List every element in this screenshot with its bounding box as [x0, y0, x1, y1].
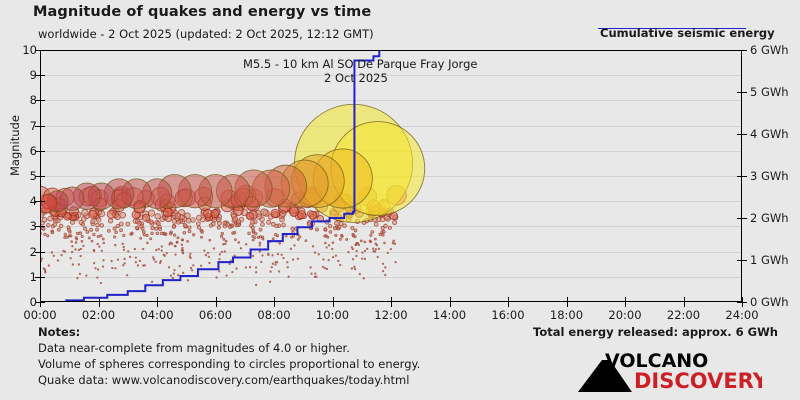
y-axis-title: Magnitude	[8, 115, 22, 176]
y2-axis-tick	[737, 176, 747, 177]
annotation-event-name: M5.5 - 10 km Al SO De Parque Fray Jorge	[243, 57, 477, 71]
x-axis-tick-label: 18:00	[550, 308, 583, 322]
note-completeness: Data near-complete from magnitudes of 4.…	[38, 341, 350, 355]
x-axis-tick	[391, 297, 392, 307]
volcanodiscovery-logo[interactable]: VOLCANO DISCOVERY	[572, 350, 762, 396]
x-axis-tick	[274, 297, 275, 307]
y2-axis-tick	[737, 218, 747, 219]
y2-axis-tick-label: 2 GWh	[750, 211, 789, 225]
y-axis-tick-label: 2	[30, 245, 37, 259]
page-title: Magnitude of quakes and energy vs time	[33, 4, 371, 20]
total-energy-label: Total energy released: approx. 6 GWh	[533, 325, 778, 339]
y2-axis-tick-label: 1 GWh	[750, 253, 789, 267]
x-axis-tick	[567, 297, 568, 307]
x-axis-tick-label: 12:00	[374, 308, 407, 322]
x-axis-tick-label: 16:00	[491, 308, 524, 322]
x-axis-tick	[625, 297, 626, 307]
legend-label-cumulative-energy: Cumulative seismic energy	[600, 26, 775, 40]
axis-frame	[40, 50, 742, 302]
y-axis-tick-label: 9	[30, 68, 37, 82]
x-axis-tick	[450, 297, 451, 307]
x-axis-tick-label: 00:00	[23, 308, 56, 322]
x-axis-tick	[508, 297, 509, 307]
x-axis-tick-label: 10:00	[316, 308, 349, 322]
y-axis-tick-label: 6	[30, 144, 37, 158]
x-axis-tick-label: 06:00	[199, 308, 232, 322]
page-subtitle: worldwide - 2 Oct 2025 (updated: 2 Oct 2…	[38, 27, 374, 41]
chart-page: Magnitude of quakes and energy vs time w…	[0, 0, 800, 400]
y2-axis-tick-label: 3 GWh	[750, 169, 789, 183]
x-axis-tick-label: 02:00	[82, 308, 115, 322]
y2-axis-tick-label: 6 GWh	[750, 43, 789, 57]
y-axis-tick-label: 1	[30, 270, 37, 284]
y2-axis-tick	[737, 260, 747, 261]
y-axis-tick-label: 5	[30, 169, 37, 183]
y-axis-tick-label: 7	[30, 119, 37, 133]
x-axis-tick-label: 14:00	[433, 308, 466, 322]
note-volume: Volume of spheres corresponding to circl…	[38, 357, 420, 371]
x-axis-tick	[40, 297, 41, 307]
y-axis-tick-label: 10	[22, 43, 37, 57]
notes-title: Notes:	[38, 325, 80, 339]
x-axis-tick	[157, 297, 158, 307]
x-axis-tick-label: 24:00	[725, 308, 758, 322]
y2-axis-tick-label: 5 GWh	[750, 85, 789, 99]
y2-axis-tick	[737, 92, 747, 93]
x-axis-tick-label: 04:00	[140, 308, 173, 322]
x-axis-tick	[684, 297, 685, 307]
plot-area: 0123456789100 GWh1 GWh2 GWh3 GWh4 GWh5 G…	[40, 50, 742, 302]
y-axis-tick-label: 4	[30, 194, 37, 208]
annotation-event-date: 2 Oct 2025	[324, 71, 388, 85]
y2-axis-tick	[737, 134, 747, 135]
note-source-url[interactable]: Quake data: www.volcanodiscovery.com/ear…	[38, 373, 409, 387]
x-axis-tick	[216, 297, 217, 307]
x-axis-tick	[333, 297, 334, 307]
y-axis-tick-label: 3	[30, 219, 37, 233]
y-axis-tick-label: 0	[30, 295, 37, 309]
y-axis-tick-label: 8	[30, 93, 37, 107]
x-axis-tick	[99, 297, 100, 307]
x-axis-tick-label: 20:00	[608, 308, 641, 322]
logo-text-discovery: DISCOVERY	[634, 369, 762, 393]
x-axis-tick-label: 08:00	[257, 308, 290, 322]
x-axis-tick	[742, 297, 743, 307]
y2-axis-tick-label: 0 GWh	[750, 295, 789, 309]
y2-axis-tick	[737, 50, 747, 51]
x-axis-tick-label: 22:00	[667, 308, 700, 322]
y2-axis-tick-label: 4 GWh	[750, 127, 789, 141]
